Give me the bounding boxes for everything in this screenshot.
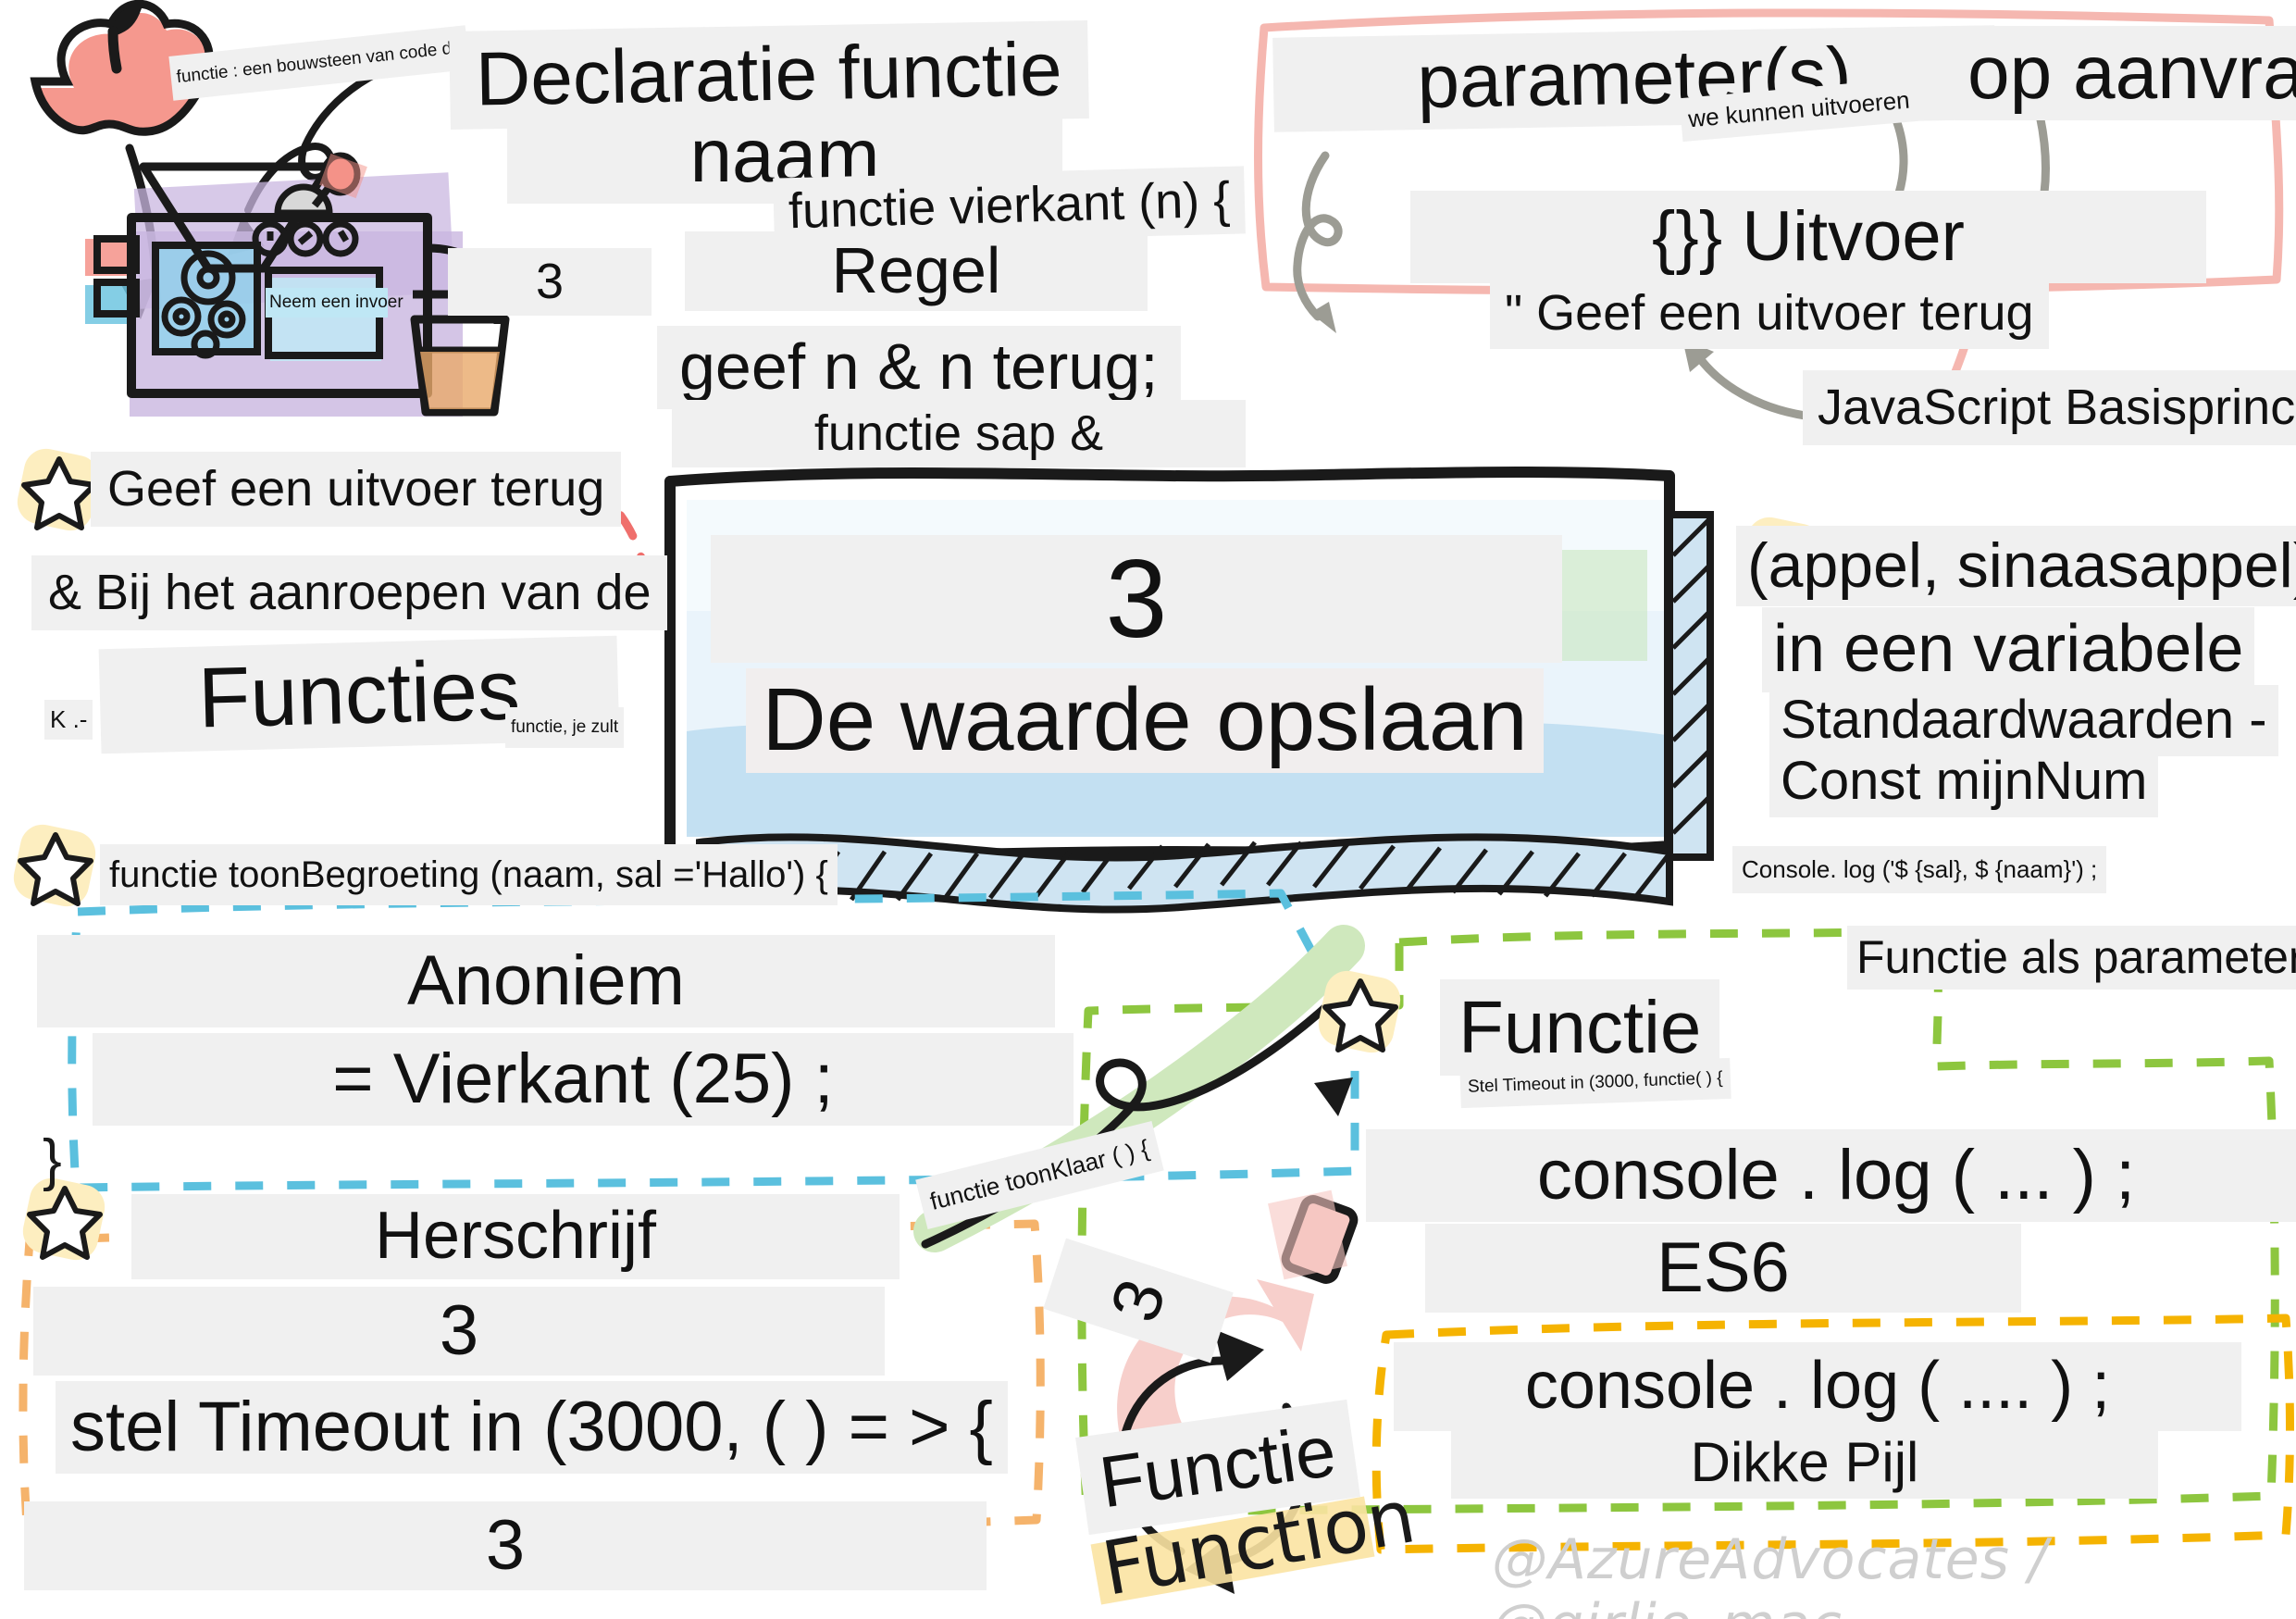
label-bij-aanroepen: & Bij het aanroepen van de	[31, 555, 667, 630]
code-geef-n-terug: geef n & n terug;	[657, 326, 1181, 409]
code-settimeout-small: Stel Timeout in (3000, functie( ) {	[1459, 1058, 1731, 1108]
code-console-log-template: Console. log ('$ {sal}, $ {naam}') ;	[1732, 846, 2106, 893]
label-op-aanvraag: op aanvraag.	[1955, 26, 2296, 120]
label-es6: ES6	[1425, 1224, 2021, 1313]
label-dikke-pijl: Dikke Pijl	[1451, 1426, 2158, 1499]
label-uitvoer: {}} Uitvoer	[1410, 191, 2206, 283]
code-console-log-dots4: console . log ( .... ) ;	[1394, 1342, 2241, 1431]
machine-display-label: Neem een invoer	[266, 288, 388, 318]
header-regel: Regel	[685, 231, 1148, 311]
quote-geef-uitvoer-terug: " Geef een uitvoer terug	[1490, 278, 2049, 349]
slide-number: 3	[711, 535, 1562, 663]
label-herschrijf: Herschrijf	[131, 1194, 900, 1279]
star-icon-4	[1318, 968, 1403, 1053]
star-icon-2	[13, 822, 98, 907]
star-icon-1	[17, 446, 102, 531]
sketchnote-canvas: functie : een bouwsteen van code die Nee…	[0, 0, 2296, 1619]
fragment-functie-je-zult: functie, je zult	[505, 707, 624, 748]
label-functie-als-parameter: Functie als parameter-	[1847, 926, 2296, 990]
label-appel-sinaasappel: (appel, sinaasappel)	[1736, 526, 2296, 606]
arrow-apple-to-machine	[130, 148, 157, 305]
label-const-mijnnum: Const mijnNum	[1769, 746, 2158, 817]
watermark-credit: @AzureAdvocates / @girlie_mac	[1492, 1527, 2296, 1619]
label-geef-uitvoer-terug: Geef een uitvoer terug	[91, 452, 621, 527]
number-three-b: 3	[24, 1501, 987, 1590]
brace-close: }	[43, 1127, 62, 1193]
code-functie-toonklaar: functie toonKlaar ( ) {	[915, 1121, 1163, 1229]
code-console-log-dots: console . log ( ... ) ;	[1366, 1129, 2296, 1222]
label-anoniem: Anoniem	[37, 935, 1055, 1027]
number-badge-three: 3	[448, 248, 652, 316]
arrow-squiggle	[1297, 156, 1338, 317]
star-icon-3	[22, 1176, 107, 1261]
note-functie-definition: functie : een bouwsteen van code die	[168, 25, 469, 100]
fragment-k: K .-	[44, 700, 93, 740]
code-functie-sap: functie sap &	[672, 400, 1246, 467]
code-vierkant-25: = Vierkant (25) ;	[93, 1033, 1074, 1126]
slide-title: De waarde opslaan	[746, 668, 1544, 773]
code-functie-toonbegroeting: functie toonBegroeting (naam, sal ='Hall…	[100, 844, 838, 905]
code-settimeout-arrow: stel Timeout in (3000, ( ) = > {	[56, 1381, 1008, 1474]
label-javascript-basisprincipes: JavaScript Basisprincipes	[1803, 370, 2296, 445]
rotated-number-three: 3	[1043, 1239, 1233, 1364]
number-three-a: 3	[33, 1287, 885, 1376]
label-in-een-variabele: in een variabele	[1762, 607, 2254, 692]
machine-illustration	[85, 154, 505, 417]
